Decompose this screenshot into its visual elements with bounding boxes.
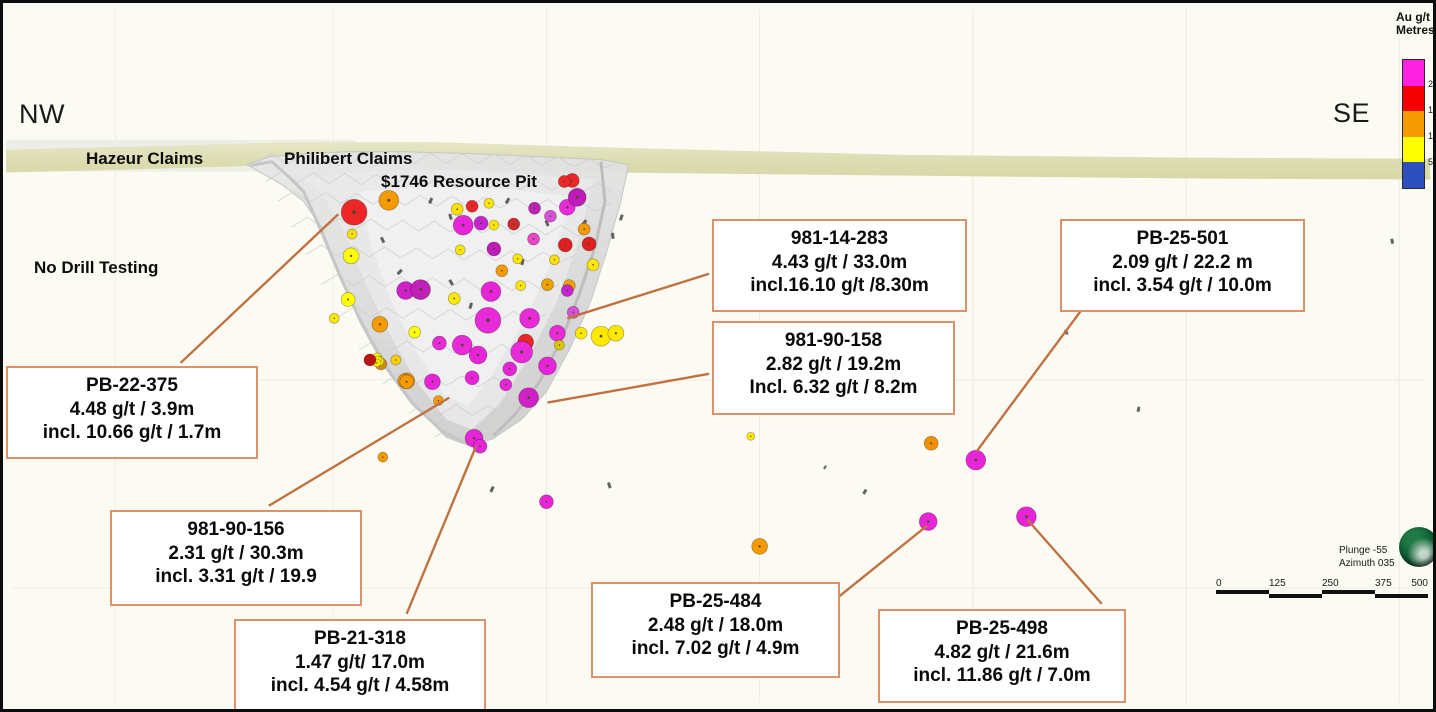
drill-intercept-bubble (451, 203, 463, 215)
drill-intercept-bubble (568, 188, 586, 206)
drill-collar-dot (550, 215, 552, 217)
drill-collar-dot (759, 545, 761, 547)
direction-label-se: SE (1333, 98, 1370, 129)
callout-hole-id: PB-25-498 (888, 617, 1116, 641)
leader-line-pb-25-484 (836, 526, 927, 599)
drill-collar-dot (615, 332, 617, 334)
drill-collar-dot (930, 442, 932, 444)
drill-collar-dot (547, 284, 549, 286)
drill-intercept-bubble (391, 355, 401, 365)
drill-intercept-bubble (448, 293, 460, 305)
drill-intercept-bubble (549, 255, 559, 265)
callout-hole-id: 981-90-156 (120, 518, 352, 542)
drill-intercept-bubble (347, 229, 357, 239)
drill-collar-dot (419, 288, 422, 291)
drill-collar-dot (438, 400, 439, 401)
drill-collar-dot (414, 331, 416, 333)
drill-intercept-bubble (561, 285, 573, 297)
drill-intercept-bubble (529, 202, 541, 214)
callout-interval: 4.48 g/t / 3.9m (16, 398, 248, 422)
drill-collar-dot (533, 238, 535, 240)
drill-intercept-bubble (575, 327, 587, 339)
drill-collar-dot (528, 317, 531, 320)
drill-intercept-bubble (465, 429, 483, 447)
drill-collar-dot (352, 210, 356, 214)
drill-intercept-bubble (372, 353, 382, 363)
drill-collar-dot (571, 180, 573, 182)
label-philibert-claims: Philibert Claims (284, 149, 412, 169)
drill-intercept-bubble (608, 325, 624, 341)
drill-intercept-bubble (373, 359, 381, 367)
drill-intercept-bubble (433, 396, 443, 406)
drill-intercept-bubble (341, 199, 367, 225)
drill-intercept-bubble (481, 282, 501, 302)
drill-intercept-bubble (587, 259, 599, 271)
leader-line-981-90-158 (547, 374, 709, 403)
legend-band (1403, 162, 1424, 188)
legend-band (1403, 137, 1424, 163)
drill-collar-dot (378, 360, 379, 361)
callout-interval: 1.47 g/t/ 17.0m (244, 651, 476, 675)
drill-intercept-bubble (343, 248, 359, 264)
drill-intercept-bubble (484, 198, 494, 208)
legend-tick-label: 5 (1428, 157, 1433, 167)
drill-collar-dot (379, 323, 381, 325)
drill-intercept-bubble (329, 313, 339, 323)
drill-intercept-bubble (375, 358, 387, 370)
drill-intercept-bubble (500, 379, 512, 391)
scale-segment (1216, 590, 1269, 594)
drill-collar-dot (462, 224, 465, 227)
drill-collar-dot (461, 344, 464, 347)
callout-included-interval: Incl. 6.32 g/t / 8.2m (722, 376, 945, 400)
leader-line-pb-25-498 (1027, 520, 1101, 604)
drill-intercept-bubble (397, 282, 415, 300)
drill-collar-dot (592, 264, 594, 266)
drill-intercept-bubble (473, 439, 487, 453)
callout-interval: 2.48 g/t / 18.0m (601, 614, 830, 638)
drill-intercept-bubble (432, 336, 446, 350)
callout-interval: 2.09 g/t / 22.2 m (1070, 251, 1295, 275)
callout-hole-id: PB-21-318 (244, 627, 476, 651)
drill-intercept-bubble (539, 357, 557, 375)
drill-collar-dot (471, 205, 473, 207)
scale-segment (1269, 594, 1322, 598)
drill-intercept-bubble (424, 374, 440, 390)
drill-intercept-bubble (378, 452, 388, 462)
drill-collar-dot (583, 228, 585, 230)
callout-hole-id: PB-25-484 (601, 590, 830, 614)
leader-line-pb-21-318 (407, 446, 476, 614)
drill-intercept-bubble (399, 373, 415, 389)
drill-intercept-bubble (411, 280, 431, 300)
drill-intercept-bubble (520, 308, 540, 328)
legend-band (1403, 111, 1424, 137)
drill-intercept-bubble (475, 307, 501, 333)
callout-interval: 2.82 g/t / 19.2m (722, 353, 945, 377)
drill-intercept-bubble (919, 513, 937, 531)
callout-hole-id: PB-25-501 (1070, 227, 1295, 251)
drill-collar-dot (501, 270, 503, 272)
drill-intercept-bubble (503, 362, 517, 376)
legend-title-line2: Metres (1396, 23, 1435, 37)
scale-segment (1375, 594, 1428, 598)
drill-intercept-bubble (469, 346, 487, 364)
drill-intercept-bubble (372, 316, 388, 332)
leader-line-981-14-283 (567, 274, 709, 319)
drill-collar-dot (520, 351, 523, 354)
drill-intercept-bubble (542, 279, 554, 291)
drill-collar-dot (546, 365, 548, 367)
callout-981-90-156[interactable]: 981-90-1562.31 g/t / 30.3mincl. 3.31 g/t… (110, 510, 362, 606)
scale-tick-label: 250 (1322, 578, 1339, 589)
label-resource-pit: $1746 Resource Pit (381, 172, 537, 192)
drill-collar-dot (377, 359, 378, 360)
drill-collar-dot (564, 244, 566, 246)
legend-tick-label: 20 (1428, 79, 1436, 89)
leader-line-pb-22-375 (181, 214, 339, 363)
drill-intercept-bubble (516, 281, 526, 291)
callout-interval: 4.82 g/t / 21.6m (888, 641, 1116, 665)
callout-included-interval: incl.16.10 g/t /8.30m (722, 274, 957, 298)
drill-intercept-bubble (379, 190, 399, 210)
callout-hole-id: PB-22-375 (16, 374, 248, 398)
callout-pb-25-498[interactable]: PB-25-4984.82 g/t / 21.6mincl. 11.86 g/t… (878, 609, 1126, 703)
drill-collar-dot (545, 501, 547, 503)
drill-intercept-bubble (747, 432, 755, 440)
drill-collar-dot (517, 258, 518, 259)
drill-collar-dot (404, 289, 406, 291)
drill-collar-dot (406, 381, 408, 383)
legend-tick-label: 15 (1428, 105, 1436, 115)
drill-intercept-bubble (364, 354, 376, 366)
drill-collar-dot (380, 363, 382, 365)
callout-included-interval: incl. 4.54 g/t / 4.58m (244, 674, 476, 698)
scale-tick-label: 0 (1216, 578, 1222, 589)
drill-collar-dot (479, 445, 481, 447)
drill-intercept-bubble (453, 215, 473, 235)
cross-section-figure: NW SE Hazeur Claims Philibert Claims $17… (0, 0, 1436, 712)
legend-title-line1: Au g/t (1396, 10, 1430, 24)
drill-intercept-bubble (374, 356, 382, 364)
drill-intercept-bubble (474, 216, 488, 230)
scale-tick-label: 125 (1269, 578, 1286, 589)
drill-collar-dot (554, 259, 555, 260)
drill-collar-dot (438, 342, 440, 344)
drill-collar-dot (347, 299, 349, 301)
leader-line-pb-25-501 (977, 309, 1082, 451)
scale-tick-label: 500 (1411, 578, 1428, 589)
legend-band (1403, 86, 1424, 112)
drill-collar-dot (369, 359, 371, 361)
drill-intercept-bubble (578, 223, 590, 235)
drill-collar-dot (431, 381, 433, 383)
callout-interval: 2.31 g/t / 30.3m (120, 542, 352, 566)
drill-collar-dot (406, 380, 408, 382)
drill-collar-dot (513, 223, 515, 225)
orientation-sphere-icon (1399, 527, 1436, 567)
drill-collar-dot (459, 249, 460, 250)
drill-intercept-bubble (398, 374, 412, 388)
drill-intercept-bubble (563, 280, 575, 292)
legend: Au g/t Metres 2015105 (1396, 7, 1436, 213)
drill-intercept-bubble (558, 238, 572, 252)
drill-collar-dot (382, 456, 383, 457)
drill-intercept-bubble (513, 254, 523, 264)
direction-label-nw: NW (19, 99, 65, 130)
callout-included-interval: incl. 10.66 g/t / 1.7m (16, 421, 248, 445)
drill-intercept-bubble (540, 495, 554, 509)
drill-collar-dot (927, 520, 929, 522)
drill-collar-dot (600, 335, 603, 338)
drill-collar-dot (556, 332, 558, 334)
drill-intercept-bubble (567, 306, 579, 318)
drill-collar-dot (488, 203, 489, 204)
drill-intercept-bubble (400, 375, 414, 389)
callout-981-90-158[interactable]: 981-90-1582.82 g/t / 19.2mIncl. 6.32 g/t… (712, 321, 955, 415)
callout-included-interval: incl. 11.86 g/t / 7.0m (888, 664, 1116, 688)
drill-intercept-bubble (465, 371, 479, 385)
drill-intercept-bubble (1016, 507, 1036, 527)
drill-collar-dot (525, 341, 527, 343)
drill-intercept-bubble (508, 218, 520, 230)
callout-981-14-283[interactable]: 981-14-2834.43 g/t / 33.0mincl.16.10 g/t… (712, 219, 967, 312)
drill-intercept-bubble (966, 450, 986, 470)
topography-band (6, 142, 1430, 180)
drill-collar-dot (453, 298, 455, 300)
callout-included-interval: incl. 3.31 g/t / 19.9 (120, 565, 352, 589)
callout-pb-25-501[interactable]: PB-25-5012.09 g/t / 22.2 mincl. 3.54 g/t… (1060, 219, 1305, 312)
drill-collar-dot (477, 354, 479, 356)
drill-collar-dot (456, 208, 458, 210)
drill-intercept-bubble (544, 210, 556, 222)
drill-intercept-bubble (487, 242, 501, 256)
view-orientation-text: Plunge -55 Azimuth 035 (1339, 545, 1395, 570)
scale-bar: 0125250375500 (1216, 578, 1428, 600)
drill-intercept-bubble (558, 176, 570, 188)
drill-collar-dot (471, 377, 473, 379)
drill-intercept-bubble (455, 245, 465, 255)
drill-collar-dot (351, 233, 352, 234)
drill-intercept-bubble (565, 174, 579, 188)
drill-collar-dot (1025, 515, 1028, 518)
drill-collar-dot (588, 243, 590, 245)
drill-collar-dot (750, 436, 751, 437)
label-no-drill-testing: No Drill Testing (34, 258, 158, 278)
drill-collar-dot (493, 224, 494, 225)
drill-collar-dot (559, 344, 560, 345)
drill-intercept-bubble (518, 334, 534, 350)
drill-intercept-bubble (409, 326, 421, 338)
drill-intercept-bubble (752, 538, 768, 554)
drill-intercept-bubble (549, 325, 565, 341)
drill-collar-dot (974, 459, 977, 462)
scale-segment (1322, 590, 1375, 594)
drill-collar-dot (334, 318, 335, 319)
drill-collar-dot (490, 290, 493, 293)
callout-pb-21-318[interactable]: PB-21-3181.47 g/t/ 17.0mincl. 4.54 g/t /… (234, 619, 486, 712)
drill-collar-dot (534, 207, 536, 209)
scale-bar-labels: 0125250375500 (1216, 578, 1428, 590)
callout-pb-22-375[interactable]: PB-22-3754.48 g/t / 3.9mincl. 10.66 g/t … (6, 366, 258, 459)
callout-hole-id: 981-90-158 (722, 329, 945, 353)
azimuth-value: Azimuth 035 (1339, 558, 1395, 569)
callout-hole-id: 981-14-283 (722, 227, 957, 251)
drill-collar-dot (527, 396, 530, 399)
scale-bar-segments (1216, 590, 1428, 599)
drill-intercept-bubble (924, 436, 938, 450)
scale-tick-label: 375 (1375, 578, 1392, 589)
drill-collar-dot (566, 206, 568, 208)
drill-collar-dot (493, 248, 495, 250)
callout-interval: 4.43 g/t / 33.0m (722, 251, 957, 275)
drill-intercept-bubble (591, 326, 611, 346)
drill-collar-dot (395, 359, 396, 360)
callout-included-interval: incl. 3.54 g/t / 10.0m (1070, 274, 1295, 298)
drill-collar-dot (568, 285, 570, 287)
drill-collar-dot (480, 222, 482, 224)
drill-intercept-bubble (511, 341, 533, 363)
drill-collar-dot (505, 384, 507, 386)
drill-intercept-bubble (489, 220, 499, 230)
drill-intercept-bubble (496, 265, 508, 277)
drill-collar-dot (404, 380, 406, 382)
drill-intercept-bubble (528, 233, 540, 245)
drill-intercept-bubble (554, 340, 564, 350)
drill-collar-dot (350, 255, 352, 257)
drill-intercept-bubble (452, 335, 472, 355)
label-hazeur-claims: Hazeur Claims (86, 149, 203, 169)
drill-intercept-bubble (341, 293, 355, 307)
callout-pb-25-484[interactable]: PB-25-4842.48 g/t / 18.0mincl. 7.02 g/t … (591, 582, 840, 678)
drill-collar-dot (387, 199, 390, 202)
drill-intercept-bubble (519, 388, 539, 408)
drill-collar-dot (486, 318, 490, 322)
drill-intercept-bubble (582, 237, 596, 251)
drill-collar-dot (520, 285, 521, 286)
callout-included-interval: incl. 7.02 g/t / 4.9m (601, 637, 830, 661)
leader-line-981-90-156 (269, 398, 449, 506)
drill-collar-dot (576, 196, 578, 198)
legend-band (1403, 60, 1424, 86)
drill-collar-dot (376, 362, 377, 363)
drill-intercept-bubble (559, 199, 575, 215)
drill-intercept-bubble (466, 200, 478, 212)
drill-collar-dot (563, 181, 565, 183)
drill-collar-dot (473, 437, 475, 439)
drill-collar-dot (376, 357, 377, 358)
drill-collar-dot (572, 312, 574, 314)
drill-intercept-bubble (374, 356, 384, 366)
plunge-value: Plunge -55 (1339, 545, 1387, 556)
legend-title: Au g/t Metres (1396, 11, 1435, 38)
drill-collar-dot (566, 290, 568, 292)
resource-pit-shell (247, 152, 629, 446)
legend-tick-label: 10 (1428, 131, 1436, 141)
drill-collar-dot (580, 332, 582, 334)
legend-color-bar (1402, 59, 1425, 189)
drill-collar-dot (509, 368, 511, 370)
